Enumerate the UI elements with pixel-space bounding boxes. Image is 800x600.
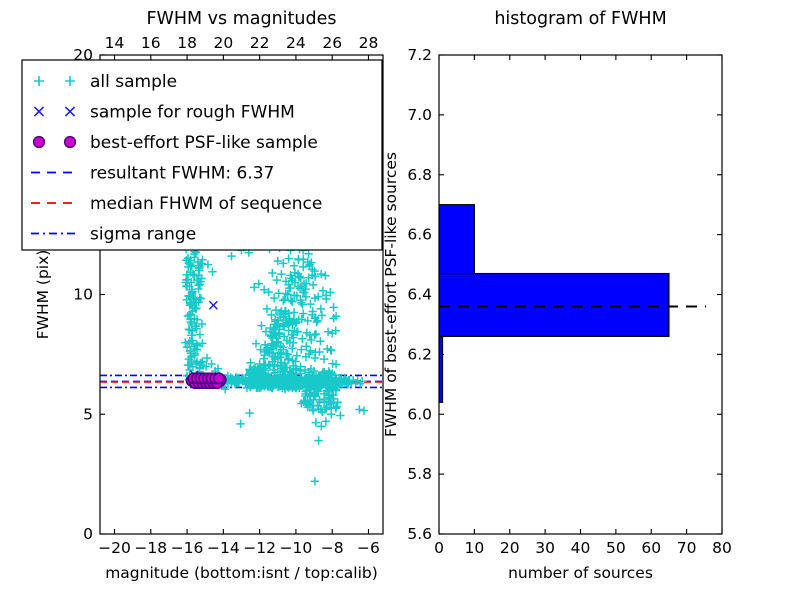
- left-x-top-tick-label: 14: [105, 34, 125, 52]
- left-data-group: [100, 238, 383, 486]
- right-x-tick-label: 40: [571, 539, 591, 557]
- left-x-tick-label: −18: [134, 539, 167, 557]
- left-x-tick-label: −14: [207, 539, 240, 557]
- right-y-tick-label: 6.2: [407, 345, 432, 363]
- legend-item-label: resultant FWHM: 6.37: [90, 164, 274, 184]
- left-x-top-tick-label: 18: [177, 34, 197, 52]
- left-x-top-tick-label: 26: [322, 34, 342, 52]
- legend-frame: [22, 60, 382, 250]
- right-panel: histogram of FWHM010203040506070805.65.8…: [382, 9, 732, 582]
- legend-item-label: median FHWM of sequence: [90, 194, 322, 214]
- right-ylabel: FWHM of best-effort PSF-like sources: [382, 152, 400, 437]
- right-y-tick-label: 6.6: [407, 226, 432, 244]
- right-y-tick-label: 6.4: [407, 286, 432, 304]
- figure-canvas: FWHM vs magnitudes−20−18−16−14−12−10−8−6…: [0, 0, 800, 600]
- histogram-bar: [439, 274, 669, 337]
- left-x-top-tick-label: 20: [213, 34, 233, 52]
- legend-item-label: sigma range: [90, 225, 196, 245]
- left-x-tick-label: −16: [171, 539, 204, 557]
- right-x-tick-label: 80: [712, 539, 732, 557]
- left-xlabel: magnitude (bottom:isnt / top:calib): [105, 564, 378, 582]
- left-panel: FWHM vs magnitudes−20−18−16−14−12−10−8−6…: [22, 9, 383, 582]
- circle-marker: [65, 137, 76, 148]
- left-x-tick-label: −6: [357, 539, 380, 557]
- right-y-tick-label: 6.0: [407, 405, 432, 423]
- right-x-tick-label: 30: [535, 539, 555, 557]
- left-x-tick-label: −20: [98, 539, 131, 557]
- left-x-top-tick-label: 16: [141, 34, 161, 52]
- right-y-tick-label: 7.2: [407, 46, 432, 64]
- left-x-top-tick-label: 22: [250, 34, 270, 52]
- right-x-tick-label: 0: [434, 539, 444, 557]
- legend-item-label: sample for rough FWHM: [90, 103, 295, 123]
- legend-item-label: all sample: [90, 72, 177, 92]
- left-y-tick-label: 5: [83, 405, 93, 423]
- right-y-tick-label: 5.6: [407, 525, 432, 543]
- left-ylabel: FWHM (pix): [34, 250, 52, 340]
- left-x-top-tick-label: 24: [286, 34, 306, 52]
- left-x-tick-label: −12: [243, 539, 276, 557]
- right-x-tick-label: 10: [465, 539, 485, 557]
- right-y-tick-label: 6.8: [407, 166, 432, 184]
- right-y-tick-label: 5.8: [407, 465, 432, 483]
- legend-box: all samplesample for rough FWHMbest-effo…: [22, 60, 382, 250]
- psf-marker: [214, 373, 224, 383]
- right-x-tick-label: 70: [677, 539, 697, 557]
- left-top-ticks: 1416182022242628: [105, 34, 379, 60]
- right-x-tick-label: 60: [641, 539, 661, 557]
- left-y-tick-label: 10: [73, 286, 93, 304]
- histogram-bar: [439, 205, 474, 274]
- right-y-tick-label: 7.0: [407, 106, 432, 124]
- right-x-tick-label: 50: [606, 539, 626, 557]
- left-panel-title: FWHM vs magnitudes: [146, 9, 336, 29]
- legend-item-label: best-effort PSF-like sample: [90, 133, 318, 153]
- scatter-psf-like: [186, 373, 225, 388]
- left-x-tick-label: −10: [280, 539, 313, 557]
- left-bottom-ticks: −20−18−16−14−12−10−8−6: [98, 529, 380, 557]
- right-x-tick-label: 20: [500, 539, 520, 557]
- left-y-tick-label: 0: [83, 525, 93, 543]
- right-data-group: [439, 205, 706, 403]
- left-x-tick-label: −8: [321, 539, 344, 557]
- right-xlabel: number of sources: [508, 564, 653, 582]
- right-panel-title: histogram of FWHM: [494, 9, 666, 29]
- left-x-top-tick-label: 28: [359, 34, 379, 52]
- circle-marker: [34, 137, 45, 148]
- matplotlib-figure: FWHM vs magnitudes−20−18−16−14−12−10−8−6…: [0, 0, 800, 600]
